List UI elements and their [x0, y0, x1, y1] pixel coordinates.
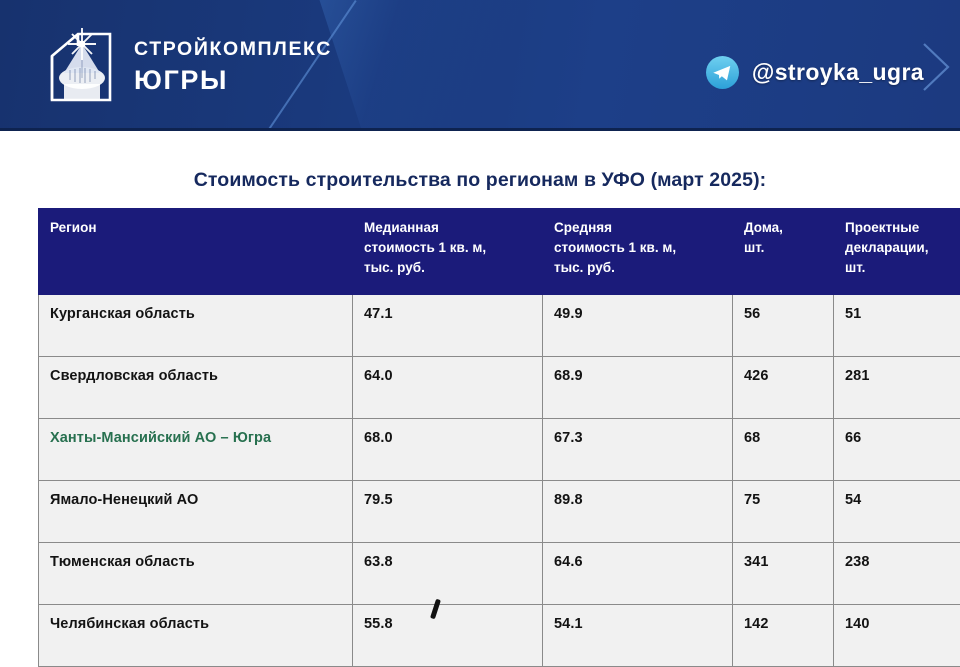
cell-houses: 426 [733, 357, 834, 419]
cell-average-price: 64.6 [543, 543, 733, 605]
cell-median-price: 68.0 [353, 419, 543, 481]
chevron-decoration-icon [920, 42, 954, 92]
column-header-houses: Дома, шт. [733, 209, 834, 295]
brand-name-line2: ЮГРЫ [134, 67, 332, 94]
column-header-median-price: Медианная стоимость 1 кв. м, тыс. руб. [353, 209, 543, 295]
cell-median-price: 47.1 [353, 295, 543, 357]
brand-logo-text: СТРОЙКОМПЛЕКС ЮГРЫ [134, 40, 332, 94]
cell-region: Челябинская область [39, 605, 353, 667]
table-row: Челябинская область 55.8 54.1 142 140 [39, 605, 960, 667]
construction-cost-table-wrapper: Регион Медианная стоимость 1 кв. м, тыс.… [38, 208, 922, 667]
cell-average-price: 49.9 [543, 295, 733, 357]
cell-declarations: 66 [834, 419, 960, 481]
cell-declarations: 238 [834, 543, 960, 605]
cell-average-price: 67.3 [543, 419, 733, 481]
column-header-average-price: Средняя стоимость 1 кв. м, тыс. руб. [543, 209, 733, 295]
cell-region: Свердловская область [39, 357, 353, 419]
cell-region: Тюменская область [39, 543, 353, 605]
table-body: Курганская область 47.1 49.9 56 51 Сверд… [39, 295, 960, 667]
table-header: Регион Медианная стоимость 1 кв. м, тыс.… [39, 209, 960, 295]
cell-median-price: 79.5 [353, 481, 543, 543]
cell-average-price: 54.1 [543, 605, 733, 667]
cell-houses: 68 [733, 419, 834, 481]
table-row: Тюменская область 63.8 64.6 341 238 [39, 543, 960, 605]
cell-median-price: 63.8 [353, 543, 543, 605]
table-header-row: Регион Медианная стоимость 1 кв. м, тыс.… [39, 209, 960, 295]
brand-name-line1: СТРОЙКОМПЛЕКС [134, 40, 332, 60]
cell-houses: 56 [733, 295, 834, 357]
table-row: Курганская область 47.1 49.9 56 51 [39, 295, 960, 357]
cell-region: Ямало-Ненецкий АО [39, 481, 353, 543]
cell-median-price: 55.8 [353, 605, 543, 667]
cell-houses: 75 [733, 481, 834, 543]
cell-houses: 142 [733, 605, 834, 667]
table-row: Ямало-Ненецкий АО 79.5 89.8 75 54 [39, 481, 960, 543]
brand-logo: СТРОЙКОМПЛЕКС ЮГРЫ [44, 26, 332, 108]
stroykompleks-ugry-logo-icon [44, 26, 118, 108]
column-header-declarations: Проектные декларации, шт. [834, 209, 960, 295]
cell-region: Курганская область [39, 295, 353, 357]
page-header-banner: СТРОЙКОМПЛЕКС ЮГРЫ @stroyka_ugra [0, 0, 960, 131]
cell-median-price: 64.0 [353, 357, 543, 419]
table-row-highlighted: Ханты-Мансийский АО – Югра 68.0 67.3 68 … [39, 419, 960, 481]
cell-average-price: 68.9 [543, 357, 733, 419]
cell-houses: 341 [733, 543, 834, 605]
cell-average-price: 89.8 [543, 481, 733, 543]
table-row: Свердловская область 64.0 68.9 426 281 [39, 357, 960, 419]
cell-declarations: 54 [834, 481, 960, 543]
cell-declarations: 140 [834, 605, 960, 667]
telegram-handle-text[interactable]: @stroyka_ugra [752, 59, 924, 86]
cell-declarations: 51 [834, 295, 960, 357]
column-header-region: Регион [39, 209, 353, 295]
construction-cost-table: Регион Медианная стоимость 1 кв. м, тыс.… [38, 208, 960, 667]
cell-region: Ханты-Мансийский АО – Югра [39, 419, 353, 481]
page-title: Стоимость строительства по регионам в УФ… [0, 169, 960, 192]
cell-declarations: 281 [834, 357, 960, 419]
telegram-icon[interactable] [706, 56, 739, 89]
telegram-handle-block[interactable]: @stroyka_ugra [706, 56, 924, 89]
slide-body: Стоимость строительства по регионам в УФ… [0, 131, 960, 640]
